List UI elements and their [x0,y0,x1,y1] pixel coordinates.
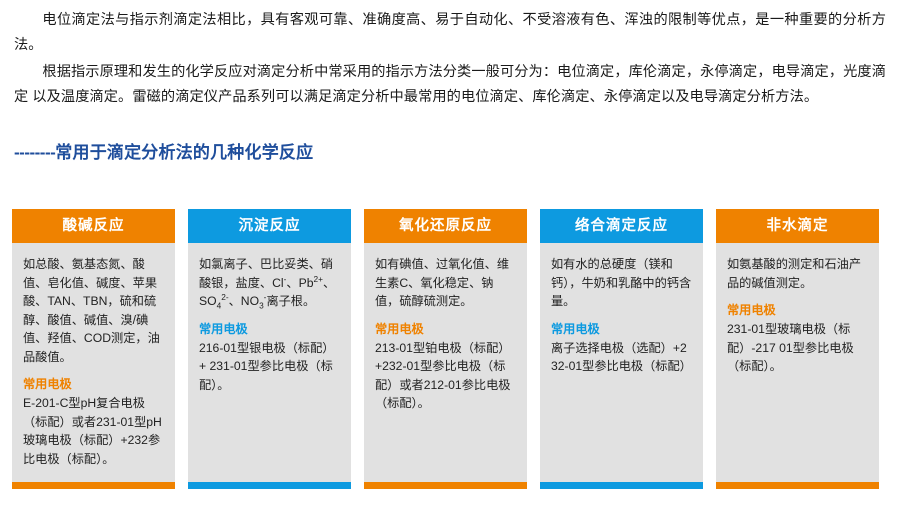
card-body-redox: 如有碘值、过氧化值、维生素C、氧化稳定、钠值，硫醇硫测定。 常用电极 213-0… [364,243,527,480]
heading-dashes: -------- [14,143,55,162]
electrode-text: 离子选择电极（选配）+232-01型参比电极（标配） [551,339,692,376]
card-accent-bar [716,482,879,489]
electrode-text: E-201-C型pH复合电极（标配）或者231-01型pH玻璃电极（标配）+23… [23,394,164,468]
reaction-card-grid: 酸碱反应 如总酸、氨基态氮、酸值、皂化值、碱度、苹果酸、TAN、TBN，硫和硫醇… [12,209,888,489]
electrode-label: 常用电极 [727,302,868,319]
card-description: 如氨基酸的测定和石油产品的碱值测定。 [727,255,868,292]
nitrate-count: 3 [259,300,264,310]
card-description: 如氯离子、巴比妥类、硝酸银，盐度、Cl-、Pb2+、SO42-、NO3-离子根。 [199,255,340,311]
card-body-precipitation: 如氯离子、巴比妥类、硝酸银，盐度、Cl-、Pb2+、SO42-、NO3-离子根。… [188,243,351,480]
card-header-nonaqueous: 非水滴定 [716,209,879,243]
desc-part-2: 、Pb [286,276,313,290]
intro-paragraph-2: 根据指示原理和发生的化学反应对滴定分析中常采用的指示方法分类一般可分为：电位滴定… [14,60,886,110]
card-description: 如总酸、氨基态氮、酸值、皂化值、碱度、苹果酸、TAN、TBN，硫和硫醇、酸值、碱… [23,255,164,366]
reaction-card-acid-base: 酸碱反应 如总酸、氨基态氮、酸值、皂化值、碱度、苹果酸、TAN、TBN，硫和硫醇… [12,209,175,489]
card-accent-bar [364,482,527,489]
card-description: 如有碘值、过氧化值、维生素C、氧化稳定、钠值，硫醇硫测定。 [375,255,516,311]
electrode-label: 常用电极 [551,321,692,338]
desc-part-4: 、NO [229,294,259,308]
card-accent-bar [540,482,703,489]
reaction-card-precipitation: 沉淀反应 如氯离子、巴比妥类、硝酸银，盐度、Cl-、Pb2+、SO42-、NO3… [188,209,351,489]
intro-paragraph-1: 电位滴定法与指示剂滴定法相比，具有客观可靠、准确度高、易于自动化、不受溶液有色、… [14,8,886,58]
heading-title: 常用于滴定分析法的几种化学反应 [55,143,313,162]
electrode-text: 216-01型银电极（标配）+ 231-01型参比电极（标配）。 [199,339,340,395]
card-body-complexometric: 如有水的总硬度（镁和钙），牛奶和乳酪中的钙含量。 常用电极 离子选择电极（选配）… [540,243,703,480]
card-header-precipitation: 沉淀反应 [188,209,351,243]
reaction-card-complexometric: 络合滴定反应 如有水的总硬度（镁和钙），牛奶和乳酪中的钙含量。 常用电极 离子选… [540,209,703,489]
intro-section: 电位滴定法与指示剂滴定法相比，具有客观可靠、准确度高、易于自动化、不受溶液有色、… [0,0,900,110]
card-header-complexometric: 络合滴定反应 [540,209,703,243]
card-body-nonaqueous: 如氨基酸的测定和石油产品的碱值测定。 常用电极 231-01型玻璃电极（标配）-… [716,243,879,480]
card-accent-bar [12,482,175,489]
card-accent-bar [188,482,351,489]
sulfate-charge: 2- [221,292,228,302]
section-heading: --------常用于滴定分析法的几种化学反应 [14,138,900,163]
card-description: 如有水的总硬度（镁和钙），牛奶和乳酪中的钙含量。 [551,255,692,311]
reaction-card-nonaqueous: 非水滴定 如氨基酸的测定和石油产品的碱值测定。 常用电极 231-01型玻璃电极… [716,209,879,489]
electrode-label: 常用电极 [199,321,340,338]
electrode-label: 常用电极 [375,321,516,338]
electrode-label: 常用电极 [23,376,164,393]
desc-part-5: 离子根。 [266,294,315,308]
card-header-acid-base: 酸碱反应 [12,209,175,243]
card-body-acid-base: 如总酸、氨基态氮、酸值、皂化值、碱度、苹果酸、TAN、TBN，硫和硫醇、酸值、碱… [12,243,175,480]
electrode-text: 231-01型玻璃电极（标配）-217 01型参比电极（标配）。 [727,320,868,376]
lead-charge: 2+ [314,273,323,283]
card-header-redox: 氧化还原反应 [364,209,527,243]
electrode-text: 213-01型铂电极（标配）+232-01型参比电极（标配）或者212-01参比… [375,339,516,413]
reaction-card-redox: 氧化还原反应 如有碘值、过氧化值、维生素C、氧化稳定、钠值，硫醇硫测定。 常用电… [364,209,527,489]
